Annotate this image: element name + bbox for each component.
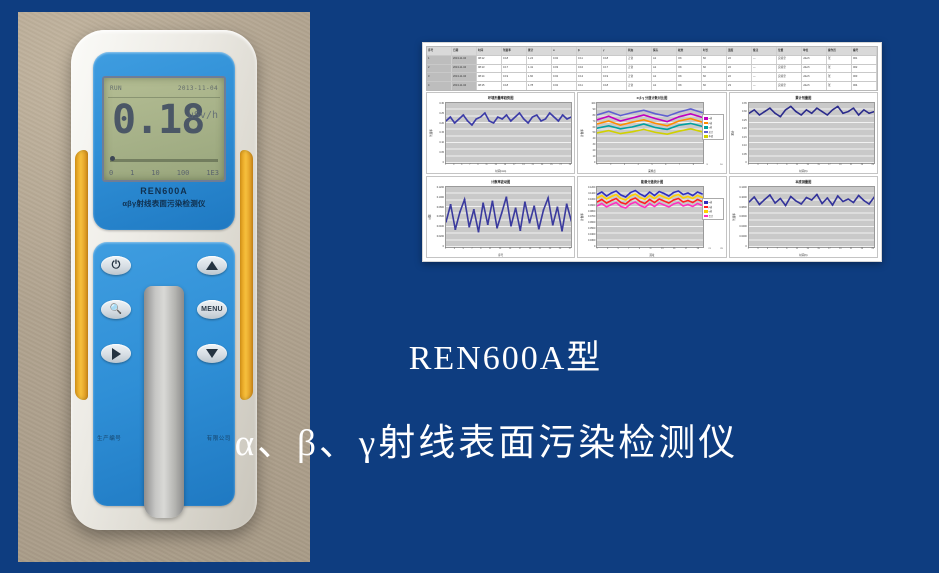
series-point [643,129,645,130]
table-cell: 0.12 [577,73,602,81]
x-tick-label: 15 [673,248,675,253]
power-button[interactable]: ⏻ [101,256,131,275]
y-tick-label: 0.0800 [437,206,444,209]
series-point [468,226,470,227]
x-tick-label: 5 [461,164,462,169]
x-tick-label: 1 [596,248,597,253]
series-point [815,194,817,195]
lcd-scale: 0 1 10 100 1E3 [109,169,219,177]
table-header-cell: 状态 [627,47,652,55]
series-point [487,224,489,225]
series-point [649,191,651,192]
x-tick-label: 13 [806,248,808,253]
y-tick-label: 50 [593,131,596,134]
series-point [868,113,870,114]
up-button[interactable] [197,256,227,275]
lcd-status-bar: RUN 2013-11-04 [110,82,218,94]
x-tick-label: 23 [541,164,543,169]
series-point [687,200,689,201]
chart-panel: 环境剂量率趋势图0.300.250.200.150.100.0501357911… [426,92,575,174]
lcd-bargraph-marker [110,156,115,161]
table-cell: A1 [652,82,677,90]
chart-y-axis-label: 计数率 [580,213,584,221]
series-point [678,198,680,199]
y-tick-label: 0.1000 [588,198,595,201]
legend-label: β道 [709,205,712,209]
series-point [663,196,665,197]
series-point [753,109,755,110]
table-cell: OK [677,82,702,90]
series-point [608,130,610,131]
series-point [659,194,661,195]
x-tick-label: 3 [454,248,455,253]
x-tick-label: 3 [624,164,625,169]
series-point [683,197,685,198]
chart-panel: 累计剂量图0.350.300.250.200.150.100.050135791… [729,92,878,174]
x-tick-label: 7 [679,164,680,169]
table-cell: 正常 [627,65,652,73]
series-point [644,199,646,200]
series-point [784,109,786,110]
table-cell: A1 [652,56,677,64]
legend-item: β道 [704,205,722,209]
series-point [678,111,680,112]
series-point [466,120,468,121]
legend-label: α道 [709,200,712,204]
x-tick-label: 15 [817,164,819,169]
chevron-up-icon [206,261,218,270]
table-cell: 60 [702,65,727,73]
y-tick-label: 0.1200 [739,186,746,189]
x-tick-label: 3 [453,164,454,169]
y-tick-label: 30 [593,143,596,146]
chart-panel: 计数率波动图0.12000.10000.08000.06000.04000.02… [426,176,575,258]
legend-item: γ道 [704,125,722,129]
headline-model: REN600A型 [0,330,939,379]
series-point [620,128,622,129]
x-tick-label: 17 [513,164,515,169]
legend-item: 合计 [704,214,722,218]
series-point [630,192,632,193]
series-point [673,199,675,200]
legend-label: γ道 [709,125,712,129]
series-point [842,113,844,114]
series-line [749,106,874,116]
series-point [659,191,661,192]
y-tick-label: 0.25 [439,112,444,115]
series-point [473,209,475,210]
table-cell: uSv/h [802,65,827,73]
series-point [687,204,689,205]
series-point [800,114,802,115]
y-tick-label: 0.30 [439,102,444,105]
series-point [763,111,765,112]
series-point [552,224,554,225]
x-tick-label: 9 [639,248,640,253]
headline-description-text: α、β、γ射线表面污染检测仪 [235,412,739,466]
lcd-scale-tick: 1 [130,169,134,177]
chart-x-axis: 135791113151719212325 [748,248,874,253]
series-point [683,205,685,206]
table-cell: uSv/h [802,73,827,81]
series-point [667,125,669,126]
series-point [643,110,645,111]
product-photo: RUN 2013-11-04 0.18 uSv/h 0 1 10 100 1E3 [18,12,310,562]
y-tick-label: 0.05 [742,153,747,156]
series-point [556,206,558,207]
table-row: 12013-11-0408:120.181.240.020.110.18正常A1… [427,56,877,65]
series-point [505,114,507,115]
series-point [673,195,675,196]
series-point [449,116,451,117]
series-line [597,129,702,134]
legend-item: 本底 [704,134,722,138]
series-point [616,202,618,203]
table-header-cell: 位置 [777,47,802,55]
series-point [678,120,680,121]
series-point [655,118,657,119]
chart-x-axis-label: 采样点 [578,169,725,173]
legend-swatch [704,122,708,125]
series-point [519,230,521,231]
series-point [540,120,542,121]
table-cell: 08:14 [477,73,502,81]
chart-title: 本底测量图 [730,179,877,184]
y-tick-label: 0.10 [439,141,444,144]
series-point [663,200,665,201]
chart-y-axis-label: 剂量率 [429,129,433,137]
series-point [635,197,637,198]
series-point [643,123,645,124]
chart-title: 计数率波动图 [427,179,574,184]
series-point [868,203,870,204]
series-point [758,114,760,115]
x-tick-label: 21 [539,248,541,253]
series-point [668,195,670,196]
x-tick-label: 25 [559,248,561,253]
table-cell: 22 [727,56,752,64]
series-point [668,198,670,199]
table-cell: 实验室 [777,73,802,81]
series-point [692,195,694,196]
series-point [654,198,656,199]
series-point [655,123,657,124]
series-point [683,201,685,202]
series-point [631,117,633,118]
y-tick-label: 0.0800 [588,210,595,213]
series-point [501,118,503,119]
y-tick-label: 0.1100 [588,192,595,195]
series-point [515,207,517,208]
x-tick-label: 1 [748,164,749,169]
series-point [536,114,538,115]
table-cell: 60 [702,82,727,90]
y-tick-label: 0.0200 [739,235,746,238]
series-point [630,199,632,200]
table-header-cell: β [577,47,602,55]
series-point [795,111,797,112]
software-screenshot: 序号日期时间剂量率累计αβγ状态探头校准时长温度备注位置单位操作员编号12013… [422,42,882,262]
series-point [608,120,610,121]
table-cell: 1.60 [527,73,552,81]
series-point [484,112,486,113]
chart-y-axis-label: 累计 [730,130,734,135]
x-tick-label: 7 [471,248,472,253]
series-point [779,116,781,117]
series-point [643,119,645,120]
table-header-cell: 探头 [652,47,677,55]
magnifier-icon: 🔍 [110,304,122,315]
device-model-label: REN600A [93,186,235,196]
lcd-scale-tick: 1E3 [206,169,219,177]
series-point [862,200,864,201]
series-point [553,116,555,117]
series-point [620,115,622,116]
x-tick-label: 21 [532,164,534,169]
series-point [616,194,618,195]
y-tick-label: 0.25 [742,119,747,122]
table-cell: 正常 [627,82,652,90]
legend-swatch [704,117,708,120]
series-point [524,201,526,202]
x-tick-label: 7 [628,248,629,253]
x-tick-label: 1 [748,248,749,253]
table-cell: 张 [827,82,852,90]
lcd-reading-unit: uSv/h [188,110,218,121]
table-cell: OK [677,56,702,64]
series-point [673,192,675,193]
series-point [673,203,675,204]
series-point [789,196,791,197]
series-point [663,204,665,205]
table-header-cell: 单位 [802,47,827,55]
series-line [597,202,702,208]
series-point [620,194,622,195]
series-point [753,196,755,197]
y-tick-label: 0.0700 [588,215,595,218]
table-header-cell: 校准 [677,47,702,55]
series-point [654,206,656,207]
chart-x-axis-label: 时间(h) [730,253,877,257]
chart-legend: α道β道γ道总计本底 [702,114,724,140]
table-cell: 1.41 [527,65,552,73]
series-point [654,202,656,203]
series-point [459,211,461,212]
chart-plot-area [596,102,703,164]
series-point [668,206,670,207]
table-cell: 实验室 [777,82,802,90]
x-tick-label: 3 [607,248,608,253]
legend-label: β道 [709,121,712,125]
table-cell: 张 [827,56,852,64]
series-point [463,199,465,200]
x-tick-label: 11 [796,248,798,253]
series-point [557,120,559,121]
series-line [446,113,571,125]
x-tick-label: 19 [529,248,531,253]
y-tick-label: 100 [591,102,595,105]
series-point [784,205,786,206]
y-tick-label: 0.20 [742,127,747,130]
series-point [630,195,632,196]
lcd-bargraph [110,159,218,162]
table-cell: 08:12 [477,56,502,64]
x-tick-label: 19 [839,248,841,253]
x-tick-label: 7 [777,164,778,169]
series-point [601,191,603,192]
series-point [678,125,680,126]
series-point [857,114,859,115]
table-cell: 0.18 [602,82,627,90]
series-point [678,131,680,132]
x-tick-label: 5 [767,164,768,169]
series-point [649,195,651,196]
series-point [635,190,637,191]
y-tick-label: 0 [594,245,595,248]
table-cell: — [752,56,777,64]
series-point [678,194,680,195]
chart-plot-area [445,186,572,248]
chart-title: 环境剂量率趋势图 [427,95,574,100]
table-cell: 60 [702,73,727,81]
search-button[interactable]: 🔍 [101,300,131,319]
chart-title: α β γ 分道计数对比图 [578,95,725,100]
y-tick-label: 0 [443,245,444,248]
series-point [497,116,499,117]
series-point [547,197,549,198]
series-point [659,202,661,203]
table-cell: 正常 [627,73,652,81]
x-tick-label: 5 [463,248,464,253]
series-point [492,122,494,123]
x-tick-label: 23 [720,248,722,253]
x-tick-label: 27 [569,248,571,253]
headline-description: α、β、γ射线表面污染检测仪 [0,412,939,466]
chart-x-axis: 1357911131517192123 [596,248,722,253]
series-point [620,133,622,134]
table-header-cell: 累计 [527,47,552,55]
series-point [601,203,603,204]
chart-series-svg [749,103,874,163]
series-point [523,118,525,119]
series-point [667,121,669,122]
series-point [831,204,833,205]
chart-panel-grid: 环境剂量率趋势图0.300.250.200.150.100.0501357911… [426,92,878,258]
lcd-display: RUN 2013-11-04 0.18 uSv/h 0 1 10 100 1E3 [102,76,226,182]
menu-button[interactable]: MENU [197,300,227,319]
series-point [779,198,781,199]
table-cell: A1 [652,65,677,73]
legend-label: 合计 [709,214,713,218]
x-tick-label: 15 [817,248,819,253]
series-point [826,114,828,115]
series-point [847,198,849,199]
table-cell: 0.17 [602,65,627,73]
y-tick-label: 0.15 [439,131,444,134]
series-point [570,220,571,221]
legend-swatch [704,210,708,213]
series-point [606,198,608,199]
chart-title: 累计剂量图 [730,95,877,100]
series-point [620,198,622,199]
x-tick-label: 5 [651,164,652,169]
series-point [836,106,838,107]
series-point [774,202,776,203]
y-tick-label: 0.0500 [588,227,595,230]
table-cell: 0.02 [552,82,577,90]
series-point [561,230,563,231]
series-point [639,205,641,206]
series-point [644,207,646,208]
series-point [631,126,633,127]
series-point [768,108,770,109]
x-tick-label: 11 [649,248,651,253]
chart-x-axis: 1357911131517192123252729 [445,164,571,169]
lcd-scale-tick: 100 [177,169,190,177]
lcd-scale-tick: 0 [109,169,113,177]
table-cell: 0.02 [552,56,577,64]
chart-x-axis: 13579111315171921232527 [445,248,571,253]
series-point [528,222,530,223]
series-point [663,193,665,194]
x-tick-label: 2 [610,164,611,169]
series-point [678,116,680,117]
table-cell: 2 [427,65,452,73]
table-cell: 0.10 [577,65,602,73]
table-cell: 2013-11-04 [452,73,477,81]
table-cell: 4 [427,82,452,90]
table-header-cell: 温度 [727,47,752,55]
series-point [510,225,512,226]
series-point [635,193,637,194]
series-point [566,203,568,204]
x-tick-label: 17 [828,164,830,169]
series-point [639,201,641,202]
series-point [505,196,507,197]
y-tick-label: 0 [745,161,746,164]
y-tick-label: 0.0900 [588,204,595,207]
y-tick-label: 0.1000 [739,196,746,199]
series-point [479,116,481,117]
x-tick-label: 13 [499,248,501,253]
table-cell: OK [677,73,702,81]
x-tick-label: 9 [786,164,787,169]
chart-x-axis-label: 时间(h) [730,169,877,173]
series-point [566,118,568,119]
series-point [606,195,608,196]
series-point [620,202,622,203]
table-cell: 002 [852,65,877,73]
y-tick-label: 0 [745,245,746,248]
table-header-cell: 剂量率 [502,47,527,55]
series-point [454,122,456,123]
series-point [815,108,817,109]
series-point [488,120,490,121]
x-tick-label: 6 [665,164,666,169]
series-point [852,108,854,109]
chart-y-axis-label: 计数 [428,214,432,219]
series-point [625,199,627,200]
y-tick-label: 0.05 [439,151,444,154]
table-cell: 003 [852,73,877,81]
series-point [836,195,838,196]
series-point [697,203,699,204]
x-tick-label: 17 [519,248,521,253]
x-tick-label: 19 [522,164,524,169]
x-tick-label: 25 [872,164,874,169]
series-point [458,118,460,119]
series-point [491,200,493,201]
